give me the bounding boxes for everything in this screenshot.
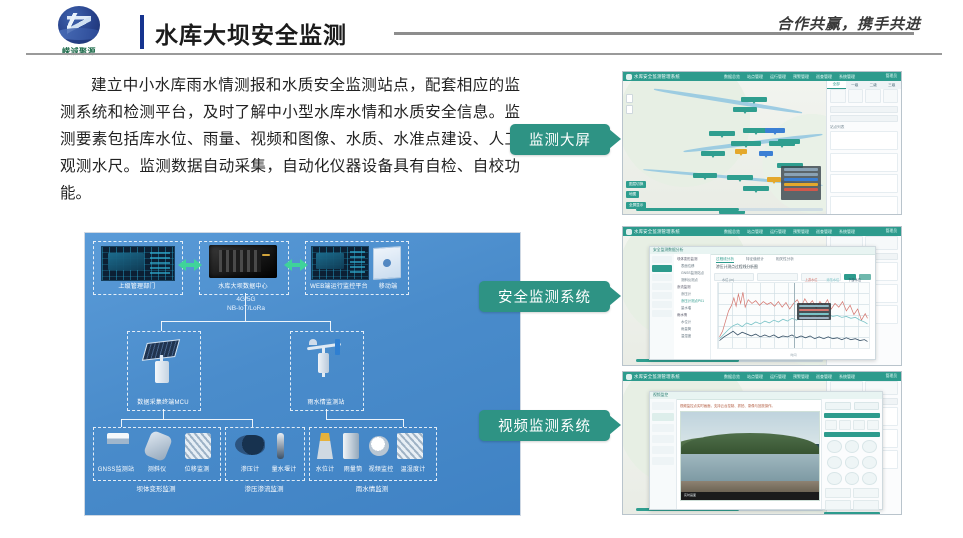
map-zoom-in-icon[interactable] [626, 94, 633, 103]
video-menu-item[interactable] [652, 435, 674, 443]
temp-humidity-sensor-icon [397, 433, 423, 459]
video-water [681, 454, 819, 480]
tree-node-active[interactable]: 渗压计测点P01 [681, 298, 710, 303]
layout-option[interactable] [825, 420, 837, 430]
video-ptz-pad[interactable] [827, 440, 877, 485]
tree-node[interactable]: 水位计 [681, 319, 710, 324]
callout-dashboard[interactable]: 监测大屏 [510, 124, 610, 155]
mcu-branch-right [252, 419, 253, 427]
screenshot-safety-chart[interactable]: 水库安全监测管理系统 数据总览 站点管理 运行管理 预警管理 巡查管理 系统管理… [622, 226, 902, 366]
map-nav-3[interactable]: 预警管理 [793, 74, 809, 80]
company-logo: 嵘诚聚源 [48, 6, 110, 58]
video-user-label[interactable]: 管理员 [886, 374, 897, 379]
slide-root: 嵘诚聚源 水库大坝安全监测 合作共赢，携手共进 建立中小水库雨水情测报和水质安全… [0, 0, 963, 538]
network-label-line2: NB-IoT/LoRa [227, 305, 265, 312]
legend-swatch [784, 183, 818, 186]
chart-user-label[interactable]: 管理员 [886, 229, 897, 234]
map-topbar: 水库安全监测管理系统 数据总览 站点管理 运行管理 预警管理 巡查管理 系统管理… [623, 72, 901, 81]
focus-near-button[interactable] [825, 500, 851, 510]
callout-dashboard-label: 监测大屏 [529, 129, 591, 150]
map-nav-0[interactable]: 数据总览 [724, 74, 740, 80]
video-topnav[interactable]: 数据总览 站点管理 运行管理 预警管理 巡查管理 系统管理 [724, 374, 855, 380]
mcu-branch-left [121, 419, 122, 427]
map-station-pin[interactable] [767, 177, 781, 182]
video-section-capture-list [824, 512, 880, 515]
tree-node[interactable]: 测斜仪测点 [681, 277, 710, 282]
chart-plot-title: 渗压计测点过程线分析图 [716, 265, 875, 270]
rail-item-active[interactable] [652, 265, 672, 272]
map-station-pin[interactable] [733, 107, 757, 112]
video-shore [681, 481, 819, 492]
chart-tab-1[interactable]: 特征值统计 [746, 257, 764, 263]
ptz-up-left-button[interactable] [827, 440, 842, 453]
layout-option[interactable] [853, 420, 865, 430]
diagram-label-data-center: 水库大坝数据中心 [199, 281, 287, 290]
chart-content-area: 过程线分析 特征值统计 相关性分析 渗压计测点过程线分析图 水位 (m) 上游水… [710, 254, 875, 359]
ptz-left-button[interactable] [827, 456, 842, 469]
map-layer-button[interactable]: 图层切换 [626, 181, 646, 188]
ptz-up-button[interactable] [845, 440, 860, 453]
map-station-pin[interactable] [741, 97, 767, 102]
chart-nav-2[interactable]: 运行管理 [770, 229, 786, 235]
map-zoom-out-icon[interactable] [626, 105, 633, 114]
video-menu-item[interactable] [652, 457, 674, 465]
title-accent-bar [140, 15, 144, 49]
video-menu-item[interactable] [652, 424, 674, 432]
mcu-branch [121, 419, 253, 420]
chart-filter-date-start[interactable] [757, 273, 797, 281]
network-label: 4G/5G NB-IoT/LoRa [205, 295, 287, 313]
legend-swatch [784, 178, 818, 181]
arrow-head-left-2 [284, 259, 292, 271]
video-window[interactable]: 视频监控 视频监控点实时画面，支持云台控制、抓拍、录像与回放操作。 实时画面 [649, 391, 883, 510]
chart-window[interactable]: 安全监测数据分析 坝体变形监测 表面位移 GNSS监测站点 测斜仪测点 渗流监测… [649, 246, 876, 360]
map-panel-tab-2[interactable]: 二级 [864, 81, 883, 89]
callout-arrow-icon [609, 286, 621, 306]
mobile-device-icon [373, 246, 401, 280]
video-nav-4[interactable]: 巡查管理 [816, 374, 832, 380]
wind-vane-icon [335, 339, 340, 355]
company-logo-icon [58, 6, 100, 44]
rain-branch [326, 419, 404, 420]
rail-item[interactable] [652, 274, 672, 281]
map-station-pin[interactable] [693, 173, 717, 178]
map-panel-tab-0[interactable]: 全部 [827, 81, 846, 89]
chart-topnav[interactable]: 数据总览 站点管理 运行管理 预警管理 巡查管理 系统管理 [724, 229, 855, 235]
trunk-horizontal-main [161, 321, 331, 322]
video-player-controls[interactable]: 实时画面 [681, 492, 819, 500]
map-station-pin[interactable] [731, 141, 761, 146]
video-menu-rail[interactable] [650, 399, 677, 509]
map-nav-5[interactable]: 系统管理 [839, 74, 855, 80]
video-record-button[interactable] [854, 402, 880, 410]
stat-chip[interactable] [865, 89, 881, 103]
chart-ylabel: 水位 (m) [722, 277, 734, 282]
rain-gauge-icon [343, 433, 359, 459]
map-nav-4[interactable]: 巡查管理 [816, 74, 832, 80]
header-slogan: 合作共赢，携手共进 [777, 13, 921, 34]
legend-item-2: 下游水位 [848, 277, 861, 282]
chart-nav-0[interactable]: 数据总览 [724, 229, 740, 235]
map-legend [781, 166, 821, 200]
video-section-ptz-control [824, 432, 880, 437]
sensor-label-video: 视频监控 [365, 464, 397, 473]
stat-chip[interactable] [883, 89, 899, 103]
legend-swatch [784, 173, 818, 176]
video-nav-3[interactable]: 预警管理 [793, 374, 809, 380]
displacement-sensor-icon [185, 433, 211, 459]
header-divider [26, 53, 942, 55]
chart-nav-3[interactable]: 预警管理 [793, 229, 809, 235]
layout-option[interactable] [867, 420, 879, 430]
map-nav-1[interactable]: 站点管理 [747, 74, 763, 80]
video-notice-text: 视频监控点实时画面，支持云台控制、抓拍、录像与回放操作。 [680, 402, 820, 408]
tree-node[interactable]: 温湿度 [681, 333, 710, 338]
callout-arrow-icon [609, 129, 621, 149]
map-panel-filter-row[interactable] [830, 115, 898, 122]
page-title: 水库大坝安全监测 [155, 16, 347, 50]
map-station-pin[interactable] [727, 175, 753, 180]
chart-nav-1[interactable]: 站点管理 [747, 229, 763, 235]
map-basemap-button[interactable]: 地图 [626, 191, 639, 198]
chart-plot: 水位 (m) 上游水位 渗压水位 下游水位 [717, 282, 870, 349]
layout-option[interactable] [839, 420, 851, 430]
map-station-pin[interactable] [765, 128, 785, 133]
focus-far-button[interactable] [853, 500, 879, 510]
sensor-group-label-rainwater: 雨水情监测 [309, 483, 435, 493]
chart-filter-select[interactable] [714, 273, 754, 281]
map-panel-list-item[interactable] [830, 174, 898, 193]
pressure-gauge-icon [235, 435, 265, 455]
legend-swatch [784, 168, 818, 171]
legend-item-0: 上游水位 [805, 277, 818, 282]
stat-chip[interactable] [830, 89, 846, 103]
video-player[interactable]: 实时画面 [680, 411, 820, 501]
ptz-up-right-button[interactable] [862, 440, 877, 453]
diagram-label-web-platform: WEB端运行监控平台 [303, 281, 375, 290]
mcu-cabinet [155, 361, 169, 383]
mcu-device-icon [145, 341, 185, 391]
trunk-drop-right [330, 321, 331, 331]
map-station-pin[interactable] [709, 131, 735, 136]
anemometer-cup-icon [309, 339, 317, 345]
map-panel-tab-3[interactable]: 三级 [883, 81, 902, 89]
tree-node[interactable]: 量水堰 [681, 305, 710, 310]
rail-item[interactable] [652, 310, 672, 317]
architecture-diagram: 上级管理部门 水库大坝数据中心 WEB端运行监控平台 移动端 4G/5G NB-… [84, 232, 521, 516]
map-user-label[interactable]: 管理员 [886, 74, 897, 79]
video-topbar: 水库安全监测管理系统 数据总览 站点管理 运行管理 预警管理 巡查管理 系统管理… [623, 372, 901, 381]
chart-tabs[interactable]: 过程线分析 特征值统计 相关性分析 [710, 254, 875, 263]
map-topnav[interactable]: 数据总览 站点管理 运行管理 预警管理 巡查管理 系统管理 [724, 74, 855, 80]
video-nav-0[interactable]: 数据总览 [724, 374, 740, 380]
chart-tree-panel[interactable]: 坝体变形监测 表面位移 GNSS监测站点 测斜仪测点 渗流监测 渗压计 渗压计测… [674, 254, 711, 359]
ptz-home-button[interactable] [845, 456, 860, 469]
ptz-right-button[interactable] [862, 456, 877, 469]
sensor-label-gnss: GNSS监测站 [93, 464, 139, 473]
network-label-line1: 4G/5G [236, 296, 255, 303]
map-station-pin[interactable] [743, 186, 769, 191]
rail-item[interactable] [652, 301, 672, 308]
rain-branch-right [403, 419, 404, 427]
tooltip-line [799, 313, 829, 315]
rail-item[interactable] [652, 292, 672, 299]
video-zoom-focus-grid[interactable] [825, 488, 879, 510]
chart-nav-4[interactable]: 巡查管理 [816, 229, 832, 235]
sensor-group-label-seepage: 渗压渗流监测 [225, 483, 303, 493]
upper-authority-screen-icon [101, 246, 175, 281]
ptz-down-button[interactable] [845, 472, 860, 485]
video-brand: 水库安全监测管理系统 [634, 374, 680, 380]
diagram-label-rain-station: 雨水情监测站 [290, 397, 362, 406]
rain-station-device-icon [307, 339, 347, 391]
arrow-head-right-2 [300, 259, 308, 271]
callout-arrow-icon [609, 415, 621, 435]
diagram-label-mobile: 移动端 [375, 281, 401, 290]
chart-tab-2[interactable]: 相关性分析 [776, 257, 794, 263]
app-logo-icon [626, 74, 632, 80]
chart-topbar: 水库安全监测管理系统 数据总览 站点管理 运行管理 预警管理 巡查管理 系统管理… [623, 227, 901, 236]
stat-chip[interactable] [848, 89, 864, 103]
web-platform-screen-icon [311, 246, 369, 280]
screenshot-map-dashboard[interactable]: 水库安全监测管理系统 数据总览 站点管理 运行管理 预警管理 巡查管理 系统管理… [622, 71, 902, 215]
tree-node[interactable]: 坝体变形监测 [677, 256, 710, 261]
chart-hover-line [794, 283, 795, 348]
mcu-drop [163, 409, 164, 419]
map-panel-list-item[interactable] [830, 131, 898, 150]
tooltip-line [799, 309, 829, 311]
map-side-panel[interactable]: 全部 一级 二级 三级 站点列表 [826, 81, 901, 214]
map-panel-section-title: 站点列表 [830, 125, 901, 130]
zoom-out-button[interactable] [853, 488, 879, 498]
legend-swatch [784, 188, 818, 191]
callout-safety-label: 安全监测系统 [498, 286, 591, 307]
arrow-head-right-1 [194, 259, 202, 271]
chart-tooltip [797, 303, 831, 320]
sensor-group-label-deformation: 坝体变形监测 [93, 483, 219, 493]
slide-header: 嵘诚聚源 水库大坝安全监测 合作共赢，携手共进 [0, 0, 963, 58]
video-menu-item-active[interactable] [652, 413, 674, 421]
rail-item[interactable] [652, 256, 672, 263]
tree-node[interactable]: 表面位移 [681, 263, 710, 268]
map-panel-tab-1[interactable]: 一级 [846, 81, 865, 89]
video-menu-item[interactable] [652, 446, 674, 454]
map-panel-filter-row[interactable] [830, 106, 898, 113]
map-panel-stat-chips [830, 89, 898, 103]
rail-item[interactable] [652, 283, 672, 290]
tooltip-line [799, 317, 829, 319]
video-nav-5[interactable]: 系统管理 [839, 374, 855, 380]
data-center-server-icon [209, 245, 277, 278]
video-screen-layout-grid[interactable] [825, 420, 879, 430]
map-station-pin[interactable] [735, 149, 747, 154]
video-capture-button[interactable] [825, 402, 851, 410]
callout-safety[interactable]: 安全监测系统 [479, 281, 610, 312]
tree-node[interactable]: 渗流监测 [677, 284, 710, 289]
map-panel-list-item[interactable] [830, 196, 898, 215]
diagram-label-mcu: 数据采集终端MCU [127, 397, 199, 406]
tree-node[interactable]: 雨量筒 [681, 326, 710, 331]
map-station-pin[interactable] [759, 151, 773, 156]
map-panel-tabs[interactable]: 全部 一级 二级 三级 [827, 81, 901, 89]
chart-brand: 水库安全监测管理系统 [634, 229, 680, 235]
sensor-label-weir: 量水堰计 [263, 464, 305, 473]
video-nav-2[interactable]: 运行管理 [770, 374, 786, 380]
video-control-panel[interactable] [821, 399, 882, 509]
chart-module-rail[interactable] [650, 254, 675, 359]
video-player-label: 实时画面 [684, 493, 696, 497]
ptz-down-left-button[interactable] [827, 472, 842, 485]
video-section-screen-control [824, 413, 880, 418]
map-panel-list-item[interactable] [830, 153, 898, 172]
ptz-down-right-button[interactable] [862, 472, 877, 485]
rain-drop [326, 409, 327, 419]
body-paragraph: 建立中小水库雨水情测报和水质安全监测站点，配套相应的监测系统和检测平台，及时了解… [60, 72, 520, 207]
arrow-head-left-1 [178, 259, 186, 271]
sensor-label-temp-humidity: 温湿度计 [395, 464, 431, 473]
tree-node[interactable]: 渗压计 [681, 291, 710, 296]
map-station-pin[interactable] [701, 151, 725, 156]
chart-tab-0[interactable]: 过程线分析 [716, 257, 734, 263]
video-nav-1[interactable]: 站点管理 [747, 374, 763, 380]
station-enclosure [318, 353, 329, 373]
callout-video-label: 视频监测系统 [498, 415, 591, 436]
company-logo-text: 嵘诚聚源 [48, 46, 110, 57]
sensor-label-inclinometer: 测斜仪 [137, 464, 177, 473]
callout-video[interactable]: 视频监测系统 [479, 410, 610, 441]
app-logo-icon [626, 374, 632, 380]
chart-nav-5[interactable]: 系统管理 [839, 229, 855, 235]
app-logo-icon [626, 229, 632, 235]
map-nav-2[interactable]: 运行管理 [770, 74, 786, 80]
map-zoom-controls[interactable] [626, 94, 633, 116]
sensor-label-displacement: 位移监测 [175, 464, 219, 473]
video-camera-icon [369, 436, 389, 456]
map-brand: 水库安全监测管理系统 [634, 74, 680, 80]
zoom-in-button[interactable] [825, 488, 851, 498]
chart-xlabel: 时间 [717, 353, 870, 357]
screenshot-video-monitoring[interactable]: 水库安全监测管理系统 数据总览 站点管理 运行管理 预警管理 巡查管理 系统管理… [622, 371, 902, 515]
map-timeline-slider[interactable] [636, 208, 823, 211]
diagram-label-upper-authority: 上级管理部门 [93, 281, 181, 290]
gnss-station-icon [107, 433, 129, 459]
tree-node[interactable]: GNSS监测站点 [681, 270, 710, 275]
tooltip-line [799, 305, 829, 307]
video-menu-item[interactable] [652, 402, 674, 410]
weir-meter-icon [277, 433, 284, 459]
trunk-drop-left [161, 321, 162, 331]
chart-legend: 上游水位 渗压水位 下游水位 [805, 277, 861, 282]
map-station-pin[interactable] [778, 139, 800, 144]
tree-node[interactable]: 雨水情 [677, 312, 710, 317]
legend-item-1: 渗压水位 [827, 277, 840, 282]
